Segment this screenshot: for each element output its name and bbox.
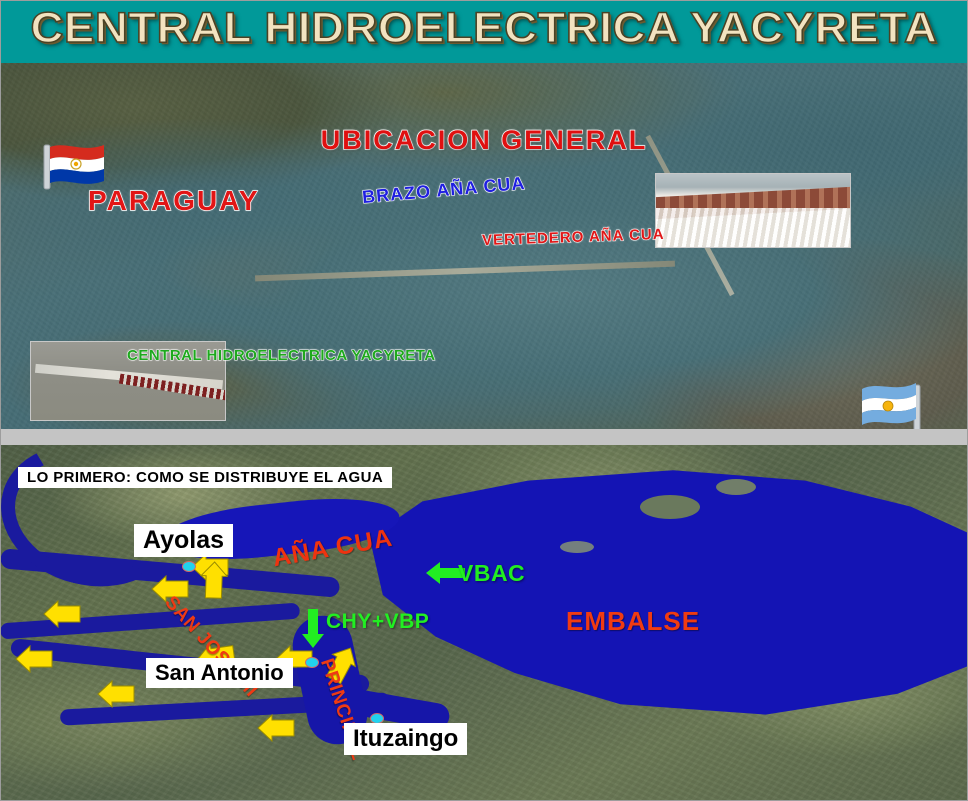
- distribution-caption: LO PRIMERO: COMO SE DISTRIBUYE EL AGUA: [18, 467, 392, 488]
- reservoir-island: [716, 479, 756, 495]
- reservoir-island: [560, 541, 594, 553]
- label-paraguay: PARAGUAY: [88, 185, 260, 217]
- page-title: CENTRAL HIDROELECTRICA YACYRETA: [0, 4, 968, 53]
- flow-arrow-yellow: [42, 600, 82, 628]
- label-ituzaingo: Ituzaingo: [344, 723, 467, 755]
- overview-satellite-panel: UBICACION GENERAL PARAGUAY BRAZO AÑA CUA…: [0, 63, 968, 429]
- label-san-antonio: San Antonio: [146, 658, 293, 688]
- water-distribution-panel: [0, 445, 968, 801]
- label-chy-vbp: CHY+VBP: [326, 610, 429, 634]
- flow-arrow-yellow: [14, 645, 54, 673]
- slide-header: CENTRAL HIDROELECTRICA YACYRETA: [0, 0, 968, 63]
- label-central-hidroelectrica-yacyreta: CENTRAL HIDROELECTRICA YACYRETA: [127, 347, 436, 364]
- label-ayolas: Ayolas: [134, 524, 233, 557]
- label-embalse: EMBALSE: [566, 606, 700, 637]
- flow-arrow-yellow: [256, 714, 296, 742]
- slide-root: CENTRAL HIDROELECTRICA YACYRETA: [0, 0, 968, 801]
- chy-vbp-flow-arrow-green: [300, 608, 326, 650]
- flow-arrow-yellow: [96, 680, 136, 708]
- reservoir-island: [640, 495, 700, 519]
- label-vbac: VBAC: [458, 560, 525, 587]
- argentina-flag: [860, 375, 938, 429]
- spillway-photo-inset: [655, 173, 851, 248]
- spillway-water-foam: [656, 208, 850, 248]
- section-title-ubicacion-general: UBICACION GENERAL: [0, 125, 968, 156]
- panel-divider: [0, 429, 968, 445]
- town-marker-ayolas: [182, 561, 196, 572]
- flow-arrow-yellow: [199, 560, 228, 601]
